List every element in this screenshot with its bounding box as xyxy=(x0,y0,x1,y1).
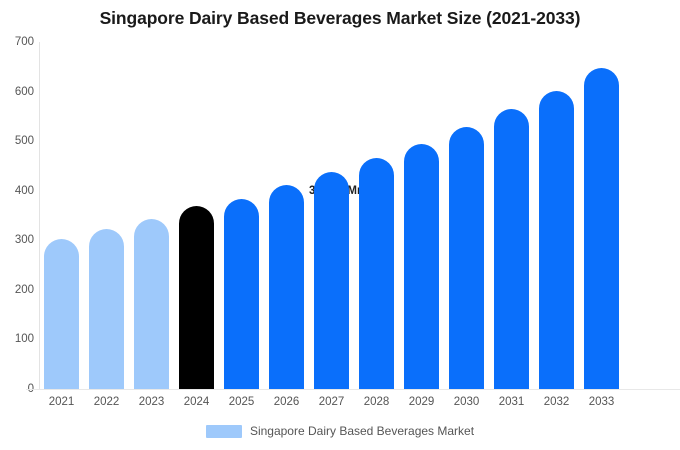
bar-group[interactable] xyxy=(314,42,349,389)
bar-group[interactable] xyxy=(494,42,529,389)
x-tick-label: 2031 xyxy=(494,396,529,408)
x-axis-line xyxy=(26,389,680,390)
x-tick-label: 2028 xyxy=(359,396,394,408)
bar-group[interactable] xyxy=(224,42,259,389)
x-tick-label: 2029 xyxy=(404,396,439,408)
chart-title: Singapore Dairy Based Beverages Market S… xyxy=(0,8,680,29)
bar[interactable] xyxy=(359,158,394,389)
x-tick-label: 2033 xyxy=(584,396,619,408)
x-tick-label: 2030 xyxy=(449,396,484,408)
y-tick-label: 100 xyxy=(0,333,34,345)
bar[interactable] xyxy=(584,68,619,389)
bar[interactable] xyxy=(539,91,574,389)
y-tick-label: 200 xyxy=(0,284,34,296)
y-tick-label: 500 xyxy=(0,135,34,147)
bar[interactable] xyxy=(89,229,124,389)
bar-group[interactable] xyxy=(89,42,124,389)
bar[interactable] xyxy=(179,206,214,389)
bar-group[interactable] xyxy=(134,42,169,389)
legend-swatch-icon xyxy=(206,425,242,438)
bar-group[interactable]: 368.54 Mn xyxy=(179,42,214,389)
x-tick-label: 2022 xyxy=(89,396,124,408)
y-tick-label: 300 xyxy=(0,234,34,246)
legend-label: Singapore Dairy Based Beverages Market xyxy=(250,424,474,438)
bar[interactable] xyxy=(134,219,169,389)
plot-area: 368.54 Mn647.42 Mn xyxy=(39,42,680,389)
chart-container: Singapore Dairy Based Beverages Market S… xyxy=(0,0,680,450)
bar-group[interactable] xyxy=(404,42,439,389)
x-tick-label: 2025 xyxy=(224,396,259,408)
bar[interactable] xyxy=(224,199,259,389)
bar-group[interactable] xyxy=(359,42,394,389)
bar[interactable] xyxy=(494,109,529,389)
bar[interactable] xyxy=(404,144,439,389)
y-axis-tick-labels: 0100200300400500600700 xyxy=(0,0,34,450)
x-tick-label: 2032 xyxy=(539,396,574,408)
bar[interactable] xyxy=(269,185,304,389)
bar-group[interactable]: 647.42 Mn xyxy=(584,42,619,389)
bar[interactable] xyxy=(449,127,484,389)
bar-group[interactable] xyxy=(449,42,484,389)
bar-group[interactable] xyxy=(539,42,574,389)
bar-group[interactable] xyxy=(269,42,304,389)
bar[interactable] xyxy=(314,172,349,389)
bar-group[interactable] xyxy=(44,42,79,389)
x-tick-label: 2021 xyxy=(44,396,79,408)
x-tick-label: 2024 xyxy=(179,396,214,408)
chart-legend: Singapore Dairy Based Beverages Market xyxy=(0,424,680,438)
x-tick-label: 2027 xyxy=(314,396,349,408)
bar[interactable] xyxy=(44,239,79,389)
y-tick-label: 600 xyxy=(0,86,34,98)
x-tick-label: 2026 xyxy=(269,396,304,408)
y-tick-label: 700 xyxy=(0,36,34,48)
y-tick-label: 400 xyxy=(0,185,34,197)
x-tick-label: 2023 xyxy=(134,396,169,408)
